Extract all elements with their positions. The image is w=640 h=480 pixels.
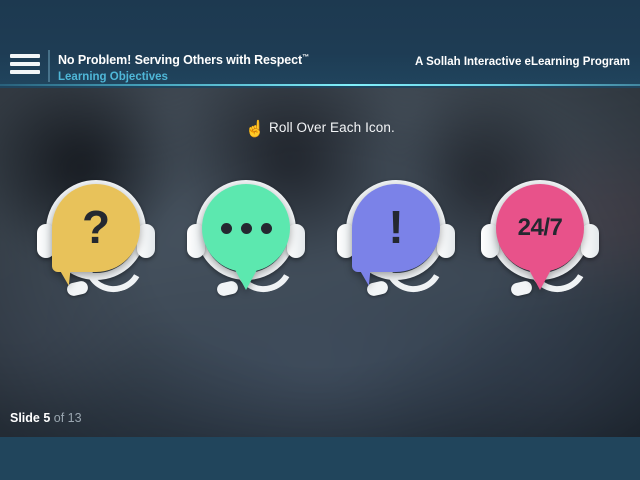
bubble-tail — [527, 266, 553, 290]
icon-hotspot-alert[interactable]: ! — [326, 174, 466, 324]
availability-text-glyph: 24/7 — [518, 216, 563, 240]
dot-3 — [261, 223, 272, 234]
trademark-mark: ™ — [302, 54, 309, 61]
slide-counter: Slide 5 of 13 — [10, 411, 82, 425]
bubble-tail — [353, 262, 371, 286]
dot-1 — [221, 223, 232, 234]
course-title: No Problem! Serving Others with Respect™ — [58, 50, 309, 68]
headset-mic-tip — [366, 280, 389, 297]
ellipsis-dots-glyph — [221, 223, 272, 234]
speech-bubble-availability: 24/7 — [496, 184, 584, 272]
speech-bubble-alert: ! — [352, 184, 440, 272]
header-accent-rule — [0, 84, 640, 86]
slide-current: Slide 5 — [10, 411, 50, 425]
speech-bubble-conversation — [202, 184, 290, 272]
slide-stage: ☝Roll Over Each Icon. ? — [0, 86, 640, 437]
brand-label: A Sollah Interactive eLearning Program — [415, 56, 630, 68]
header-divider — [48, 50, 50, 82]
question-mark-glyph: ? — [82, 204, 110, 250]
title-block: No Problem! Serving Others with Respect™… — [58, 50, 309, 85]
section-title: Learning Objectives — [58, 70, 309, 85]
icon-hotspot-question[interactable]: ? — [26, 174, 166, 324]
headset-mic-tip — [66, 280, 89, 297]
exclamation-mark-glyph: ! — [388, 204, 403, 250]
instruction-prompt: ☝Roll Over Each Icon. — [0, 119, 640, 139]
course-title-text: No Problem! Serving Others with Respect — [58, 53, 302, 67]
bubble-tail — [53, 262, 71, 286]
hamburger-bar-3 — [10, 70, 40, 74]
hamburger-menu-icon[interactable] — [10, 54, 40, 76]
bubble-tail — [233, 266, 259, 290]
icon-row: ? — [0, 174, 640, 324]
slide-total: of 13 — [54, 411, 82, 425]
player-header: No Problem! Serving Others with Respect™… — [0, 0, 640, 88]
icon-hotspot-conversation[interactable] — [176, 174, 316, 324]
player-footer-frame — [0, 437, 640, 480]
hamburger-bar-1 — [10, 54, 40, 58]
dot-2 — [241, 223, 252, 234]
pointing-hand-icon: ☝ — [245, 121, 265, 138]
elearning-player: No Problem! Serving Others with Respect™… — [0, 0, 640, 480]
icon-hotspot-availability[interactable]: 24/7 — [470, 174, 610, 324]
instruction-text: Roll Over Each Icon. — [269, 120, 395, 135]
speech-bubble-question: ? — [52, 184, 140, 272]
hamburger-bar-2 — [10, 62, 40, 66]
